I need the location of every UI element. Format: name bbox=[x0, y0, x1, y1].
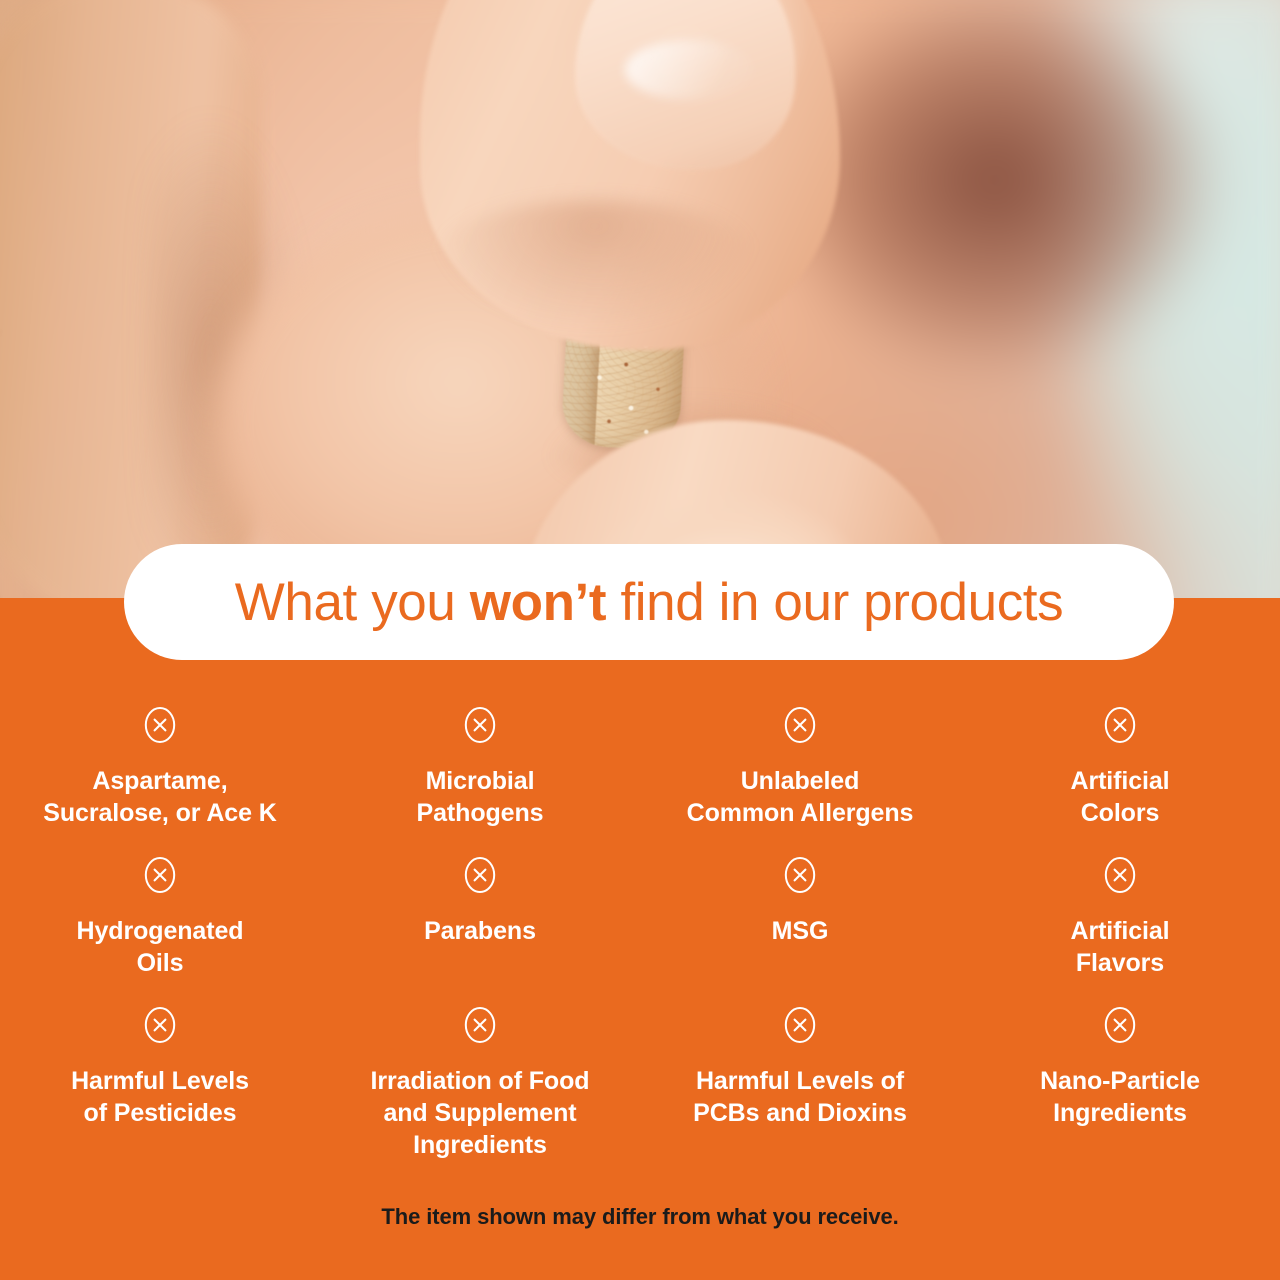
grid-item: Irradiation of Food and Supplement Ingre… bbox=[320, 1000, 640, 1150]
circle-x-icon bbox=[143, 1005, 177, 1045]
grid-item: Nano-Particle Ingredients bbox=[960, 1000, 1280, 1150]
title-part-2: find in our products bbox=[606, 573, 1063, 632]
grid-item-label: Unlabeled Common Allergens bbox=[687, 765, 914, 829]
page-title: What you won’t find in our products bbox=[235, 576, 1063, 629]
title-emphasis: won’t bbox=[470, 573, 606, 632]
grid-item: Unlabeled Common Allergens bbox=[640, 700, 960, 850]
grid-item-label: Irradiation of Food and Supplement Ingre… bbox=[371, 1065, 590, 1161]
grid-item-label: Harmful Levels of PCBs and Dioxins bbox=[693, 1065, 907, 1129]
circle-x-icon bbox=[1103, 1005, 1137, 1045]
grid-item-label: Parabens bbox=[424, 915, 536, 947]
excluded-ingredients-grid: Aspartame, Sucralose, or Ace K Microbial… bbox=[0, 700, 1280, 1150]
circle-x-icon bbox=[783, 855, 817, 895]
grid-item-label: Aspartame, Sucralose, or Ace K bbox=[43, 765, 276, 829]
hero-photo bbox=[0, 0, 1280, 600]
grid-item: Parabens bbox=[320, 850, 640, 1000]
grid-item: Artificial Colors bbox=[960, 700, 1280, 850]
grid-item: Microbial Pathogens bbox=[320, 700, 640, 850]
grid-item-label: Hydrogenated Oils bbox=[77, 915, 244, 979]
circle-x-icon bbox=[463, 705, 497, 745]
title-pill: What you won’t find in our products bbox=[124, 544, 1174, 660]
circle-x-icon bbox=[783, 705, 817, 745]
promo-graphic: What you won’t find in our products Aspa… bbox=[0, 0, 1280, 1280]
grid-item-label: Artificial Colors bbox=[1070, 765, 1169, 829]
grid-item: MSG bbox=[640, 850, 960, 1000]
circle-x-icon bbox=[1103, 705, 1137, 745]
grid-item: Hydrogenated Oils bbox=[0, 850, 320, 1000]
circle-x-icon bbox=[463, 1005, 497, 1045]
thumb-crease bbox=[430, 200, 760, 330]
thumbnail-highlight bbox=[625, 40, 755, 100]
circle-x-icon bbox=[463, 855, 497, 895]
circle-x-icon bbox=[783, 1005, 817, 1045]
grid-item: Aspartame, Sucralose, or Ace K bbox=[0, 700, 320, 850]
circle-x-icon bbox=[1103, 855, 1137, 895]
grid-item: Harmful Levels of PCBs and Dioxins bbox=[640, 1000, 960, 1150]
circle-x-icon bbox=[143, 705, 177, 745]
disclaimer-text: The item shown may differ from what you … bbox=[0, 1204, 1280, 1230]
title-part-1: What you bbox=[235, 573, 470, 632]
grid-item-label: Microbial Pathogens bbox=[417, 765, 544, 829]
grid-item: Harmful Levels of Pesticides bbox=[0, 1000, 320, 1150]
grid-item-label: Artificial Flavors bbox=[1070, 915, 1169, 979]
circle-x-icon bbox=[143, 855, 177, 895]
grid-item-label: Harmful Levels of Pesticides bbox=[71, 1065, 249, 1129]
grid-item-label: Nano-Particle Ingredients bbox=[1040, 1065, 1200, 1129]
grid-item: Artificial Flavors bbox=[960, 850, 1280, 1000]
grid-item-label: MSG bbox=[772, 915, 829, 947]
